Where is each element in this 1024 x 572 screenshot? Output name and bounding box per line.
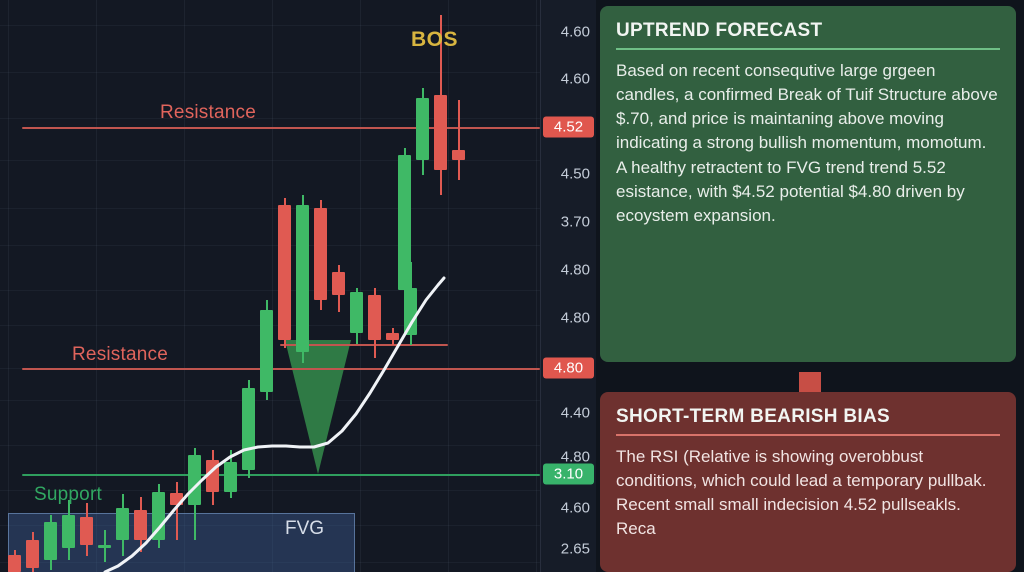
candle-body — [206, 460, 219, 492]
price-axis-badge: 3.10 — [543, 464, 594, 485]
candle-body — [242, 388, 255, 470]
candle-body — [152, 492, 165, 540]
price-axis[interactable]: 4.604.604.524.503.704.804.804.804.404.80… — [540, 0, 596, 572]
price-axis-tick: 4.60 — [561, 24, 590, 41]
candle-body — [80, 517, 93, 545]
candle-body — [116, 508, 129, 540]
price-axis-tick: 2.65 — [561, 541, 590, 558]
candle-body — [278, 205, 291, 340]
candlestick — [314, 0, 327, 572]
price-axis-badge: 4.80 — [543, 358, 594, 379]
support-label: Support — [34, 484, 102, 506]
candlestick — [416, 0, 429, 572]
resistance-lower-label: Resistance — [72, 344, 168, 366]
price-axis-badge: 4.52 — [543, 117, 594, 138]
gridline-vertical — [536, 0, 537, 572]
candlestick — [134, 0, 147, 572]
bearish-bias-body: The RSI (Relative is showing overobbust … — [616, 445, 1000, 542]
candle-body — [8, 555, 21, 572]
candle-body — [452, 150, 465, 160]
candlestick — [116, 0, 129, 572]
candlestick — [188, 0, 201, 572]
candle-body — [398, 155, 411, 290]
candle-body — [434, 95, 447, 170]
candle-body — [296, 205, 309, 352]
gridline-vertical — [184, 0, 185, 572]
candle-body — [188, 455, 201, 505]
candlestick — [170, 0, 183, 572]
price-axis-tick: 4.80 — [561, 262, 590, 279]
candle-body — [26, 540, 39, 568]
candle-body — [350, 292, 363, 333]
candle-body — [170, 493, 183, 505]
price-axis-tick: 4.60 — [561, 71, 590, 88]
fvg-label: FVG — [285, 518, 324, 540]
price-axis-tick: 4.40 — [561, 405, 590, 422]
candlestick — [368, 0, 381, 572]
bearish-bias-panel: SHORT-TERM BEARISH BIAS The RSI (Relativ… — [600, 392, 1016, 572]
uptrend-forecast-title: UPTREND FORECAST — [616, 20, 1000, 50]
candle-body — [332, 272, 345, 295]
price-axis-tick: 4.50 — [561, 166, 590, 183]
candlestick — [8, 0, 21, 572]
candlestick — [242, 0, 255, 572]
candle-wick — [458, 100, 460, 180]
screen-root: ResistanceResistanceSupportBOSFVG 4.604.… — [0, 0, 1024, 572]
uptrend-forecast-panel: UPTREND FORECAST Based on recent consequ… — [600, 6, 1016, 362]
candle-body — [314, 208, 327, 300]
candle-body — [134, 510, 147, 540]
candle-body — [368, 295, 381, 340]
candle-body — [260, 310, 273, 392]
candlestick — [434, 0, 447, 572]
candle-body — [416, 98, 429, 160]
price-chart[interactable]: ResistanceResistanceSupportBOSFVG — [0, 0, 540, 572]
candle-body — [62, 515, 75, 548]
candlestick — [350, 0, 363, 572]
candle-body — [44, 522, 57, 560]
candlestick — [224, 0, 237, 572]
candle-body — [224, 462, 237, 492]
candlestick — [278, 0, 291, 572]
candle-body — [98, 545, 111, 548]
price-axis-tick: 4.60 — [561, 500, 590, 517]
candlestick — [206, 0, 219, 572]
candlestick — [452, 0, 465, 572]
resistance-upper-label: Resistance — [160, 102, 256, 124]
bearish-bias-title: SHORT-TERM BEARISH BIAS — [616, 406, 1000, 436]
price-axis-tick: 3.70 — [561, 214, 590, 231]
candlestick — [260, 0, 273, 572]
candle-wick — [176, 482, 178, 540]
uptrend-forecast-body: Based on recent consequtive large grgeen… — [616, 59, 1000, 228]
candlestick — [296, 0, 309, 572]
price-axis-tick: 4.80 — [561, 310, 590, 327]
candlestick — [332, 0, 345, 572]
gridline-vertical — [448, 0, 449, 572]
candlestick — [398, 0, 411, 572]
bos-label: BOS — [411, 28, 458, 52]
candlestick — [152, 0, 165, 572]
